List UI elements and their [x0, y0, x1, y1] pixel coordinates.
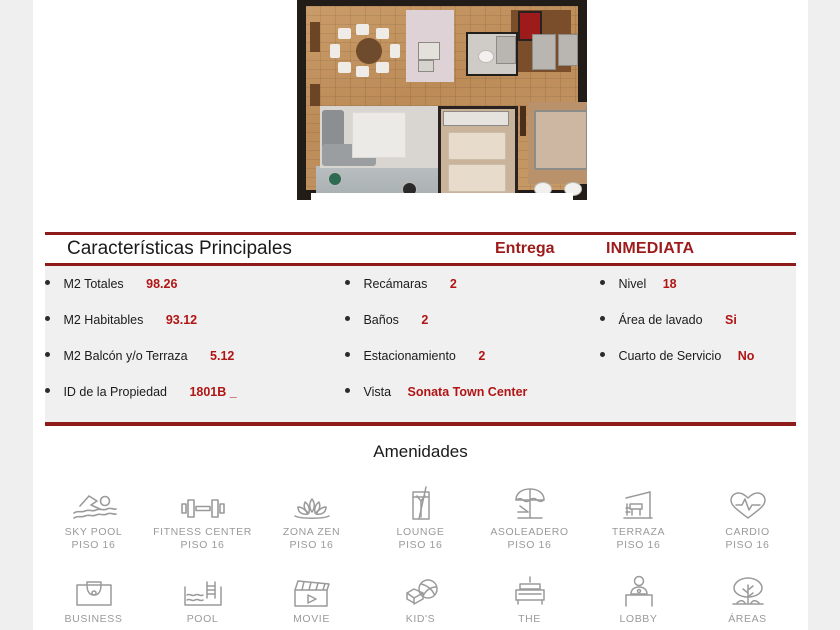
bullet-icon	[345, 352, 350, 357]
amenity-sky-pool[interactable]: SKY POOL PISO 16	[39, 480, 148, 552]
row-value: 1801B _	[189, 385, 236, 399]
amenity-the[interactable]: THE	[475, 567, 584, 626]
amenity-floor: PISO 16	[475, 539, 584, 552]
characteristics-column-2: Recámaras 2 Baños 2 Estacionamiento 2 Vi…	[345, 266, 600, 410]
amenity-name: ÁREAS	[693, 613, 802, 626]
dumbbell-icon	[148, 480, 257, 522]
amenity-name: ZONA ZEN	[257, 526, 366, 539]
amenity-name: THE	[475, 613, 584, 626]
plan-bedroom-2	[438, 106, 518, 202]
bullet-icon	[345, 316, 350, 321]
amenity-terraza[interactable]: TERRAZA PISO 16	[584, 480, 693, 552]
amenity-lobby[interactable]: LOBBY	[584, 567, 693, 626]
plan-bedroom-1	[528, 102, 587, 184]
amenity-floor: PISO 16	[584, 539, 693, 552]
row-value: 98.26	[146, 277, 177, 291]
row-label: Cuarto de Servicio	[618, 349, 721, 363]
amenity-movie[interactable]: MOVIE	[257, 567, 366, 626]
kids-toys-icon	[366, 567, 475, 609]
bullet-icon	[45, 280, 50, 285]
bullet-icon	[45, 316, 50, 321]
lotus-icon	[257, 480, 366, 522]
row-value: No	[738, 349, 755, 363]
amenities-grid: SKY POOL PISO 16 FITNESS CENTER PISO 16	[39, 480, 802, 626]
row-value: 2	[421, 313, 428, 327]
amenity-business[interactable]: BUSINESS	[39, 567, 148, 626]
amenity-name: KID'S	[366, 613, 475, 626]
briefcase-icon	[39, 567, 148, 609]
row-value: 2	[478, 349, 485, 363]
amenities-row-1: SKY POOL PISO 16 FITNESS CENTER PISO 16	[39, 480, 802, 552]
amenity-name: LOUNGE	[366, 526, 475, 539]
characteristics-title: Características Principales	[67, 238, 292, 260]
amenity-kids[interactable]: KID'S	[366, 567, 475, 626]
swimmer-icon	[39, 480, 148, 522]
row-label: M2 Totales	[63, 277, 123, 291]
row-value: 5.12	[210, 349, 234, 363]
amenity-name: LOBBY	[584, 613, 693, 626]
terrace-icon	[584, 480, 693, 522]
characteristics-header: Características Principales Entrega INME…	[45, 232, 796, 266]
row-label: ID de la Propiedad	[63, 385, 167, 399]
row-label: Baños	[363, 313, 398, 327]
amenities-row-2: BUSINESS POOL	[39, 567, 802, 626]
table-row: Recámaras 2	[345, 266, 600, 302]
cocktail-icon	[366, 480, 475, 522]
amenities-title: Amenidades	[33, 442, 808, 462]
plan-dining-room	[332, 24, 404, 82]
table-row: Baños 2	[345, 302, 600, 338]
amenity-zona-zen[interactable]: ZONA ZEN PISO 16	[257, 480, 366, 552]
row-label: Estacionamiento	[363, 349, 455, 363]
amenity-areas[interactable]: ÁREAS	[693, 567, 802, 626]
amenity-floor: PISO 16	[148, 539, 257, 552]
amenity-name: BUSINESS	[39, 613, 148, 626]
table-row: M2 Totales 98.26	[45, 266, 345, 302]
listing-page: Características Principales Entrega INME…	[33, 0, 808, 630]
table-row: Estacionamiento 2	[345, 338, 600, 374]
characteristics-table: M2 Totales 98.26 M2 Habitables 93.12 M2 …	[45, 266, 796, 426]
row-value: Sonata Town Center	[407, 385, 527, 399]
table-row: ID de la Propiedad 1801B _	[45, 374, 345, 410]
bullet-icon	[45, 388, 50, 393]
amenity-asoleadero[interactable]: ASOLEADERO PISO 16	[475, 480, 584, 552]
delivery-value: INMEDIATA	[606, 240, 694, 258]
bullet-icon	[600, 280, 605, 285]
characteristics-column-3: Nivel 18 Área de lavado Si Cuarto de Ser…	[600, 266, 796, 374]
bullet-icon	[45, 352, 50, 357]
tree-icon	[693, 567, 802, 609]
amenity-name: ASOLEADERO	[475, 526, 584, 539]
table-row: M2 Balcón y/o Terraza 5.12	[45, 338, 345, 374]
floorplan-image[interactable]	[297, 0, 587, 210]
concierge-icon	[584, 567, 693, 609]
table-row: M2 Habitables 93.12	[45, 302, 345, 338]
amenity-floor: PISO 16	[257, 539, 366, 552]
heart-pulse-icon	[693, 480, 802, 522]
row-value: Si	[725, 313, 737, 327]
amenity-name: FITNESS CENTER	[148, 526, 257, 539]
pool-ladder-icon	[148, 567, 257, 609]
amenity-fitness-center[interactable]: FITNESS CENTER PISO 16	[148, 480, 257, 552]
row-label: M2 Balcón y/o Terraza	[63, 349, 187, 363]
table-row: Vista Sonata Town Center	[345, 374, 600, 410]
row-value: 18	[663, 277, 677, 291]
clapperboard-icon	[257, 567, 366, 609]
row-value: 93.12	[166, 313, 197, 327]
amenity-name: CARDIO	[693, 526, 802, 539]
bullet-icon	[600, 352, 605, 357]
amenity-floor: PISO 16	[366, 539, 475, 552]
bullet-icon	[345, 388, 350, 393]
bullet-icon	[345, 280, 350, 285]
row-label: M2 Habitables	[63, 313, 143, 327]
bed-icon	[475, 567, 584, 609]
amenity-name: SKY POOL	[39, 526, 148, 539]
table-row: Nivel 18	[600, 266, 796, 302]
amenity-cardio[interactable]: CARDIO PISO 16	[693, 480, 802, 552]
table-row: Área de lavado Si	[600, 302, 796, 338]
row-label: Nivel	[618, 277, 646, 291]
delivery-label: Entrega	[495, 240, 555, 258]
amenity-name: MOVIE	[257, 613, 366, 626]
amenity-name: TERRAZA	[584, 526, 693, 539]
characteristics-column-1: M2 Totales 98.26 M2 Habitables 93.12 M2 …	[45, 266, 345, 410]
table-row: Cuarto de Servicio No	[600, 338, 796, 374]
row-value: 2	[450, 277, 457, 291]
amenity-floor: PISO 16	[693, 539, 802, 552]
amenity-lounge[interactable]: LOUNGE PISO 16	[366, 480, 475, 552]
row-label: Área de lavado	[618, 313, 702, 327]
row-label: Vista	[363, 385, 391, 399]
row-label: Recámaras	[363, 277, 427, 291]
amenity-name: POOL	[148, 613, 257, 626]
parasol-icon	[475, 480, 584, 522]
amenity-pool[interactable]: POOL	[148, 567, 257, 626]
amenity-floor: PISO 16	[39, 539, 148, 552]
bullet-icon	[600, 316, 605, 321]
